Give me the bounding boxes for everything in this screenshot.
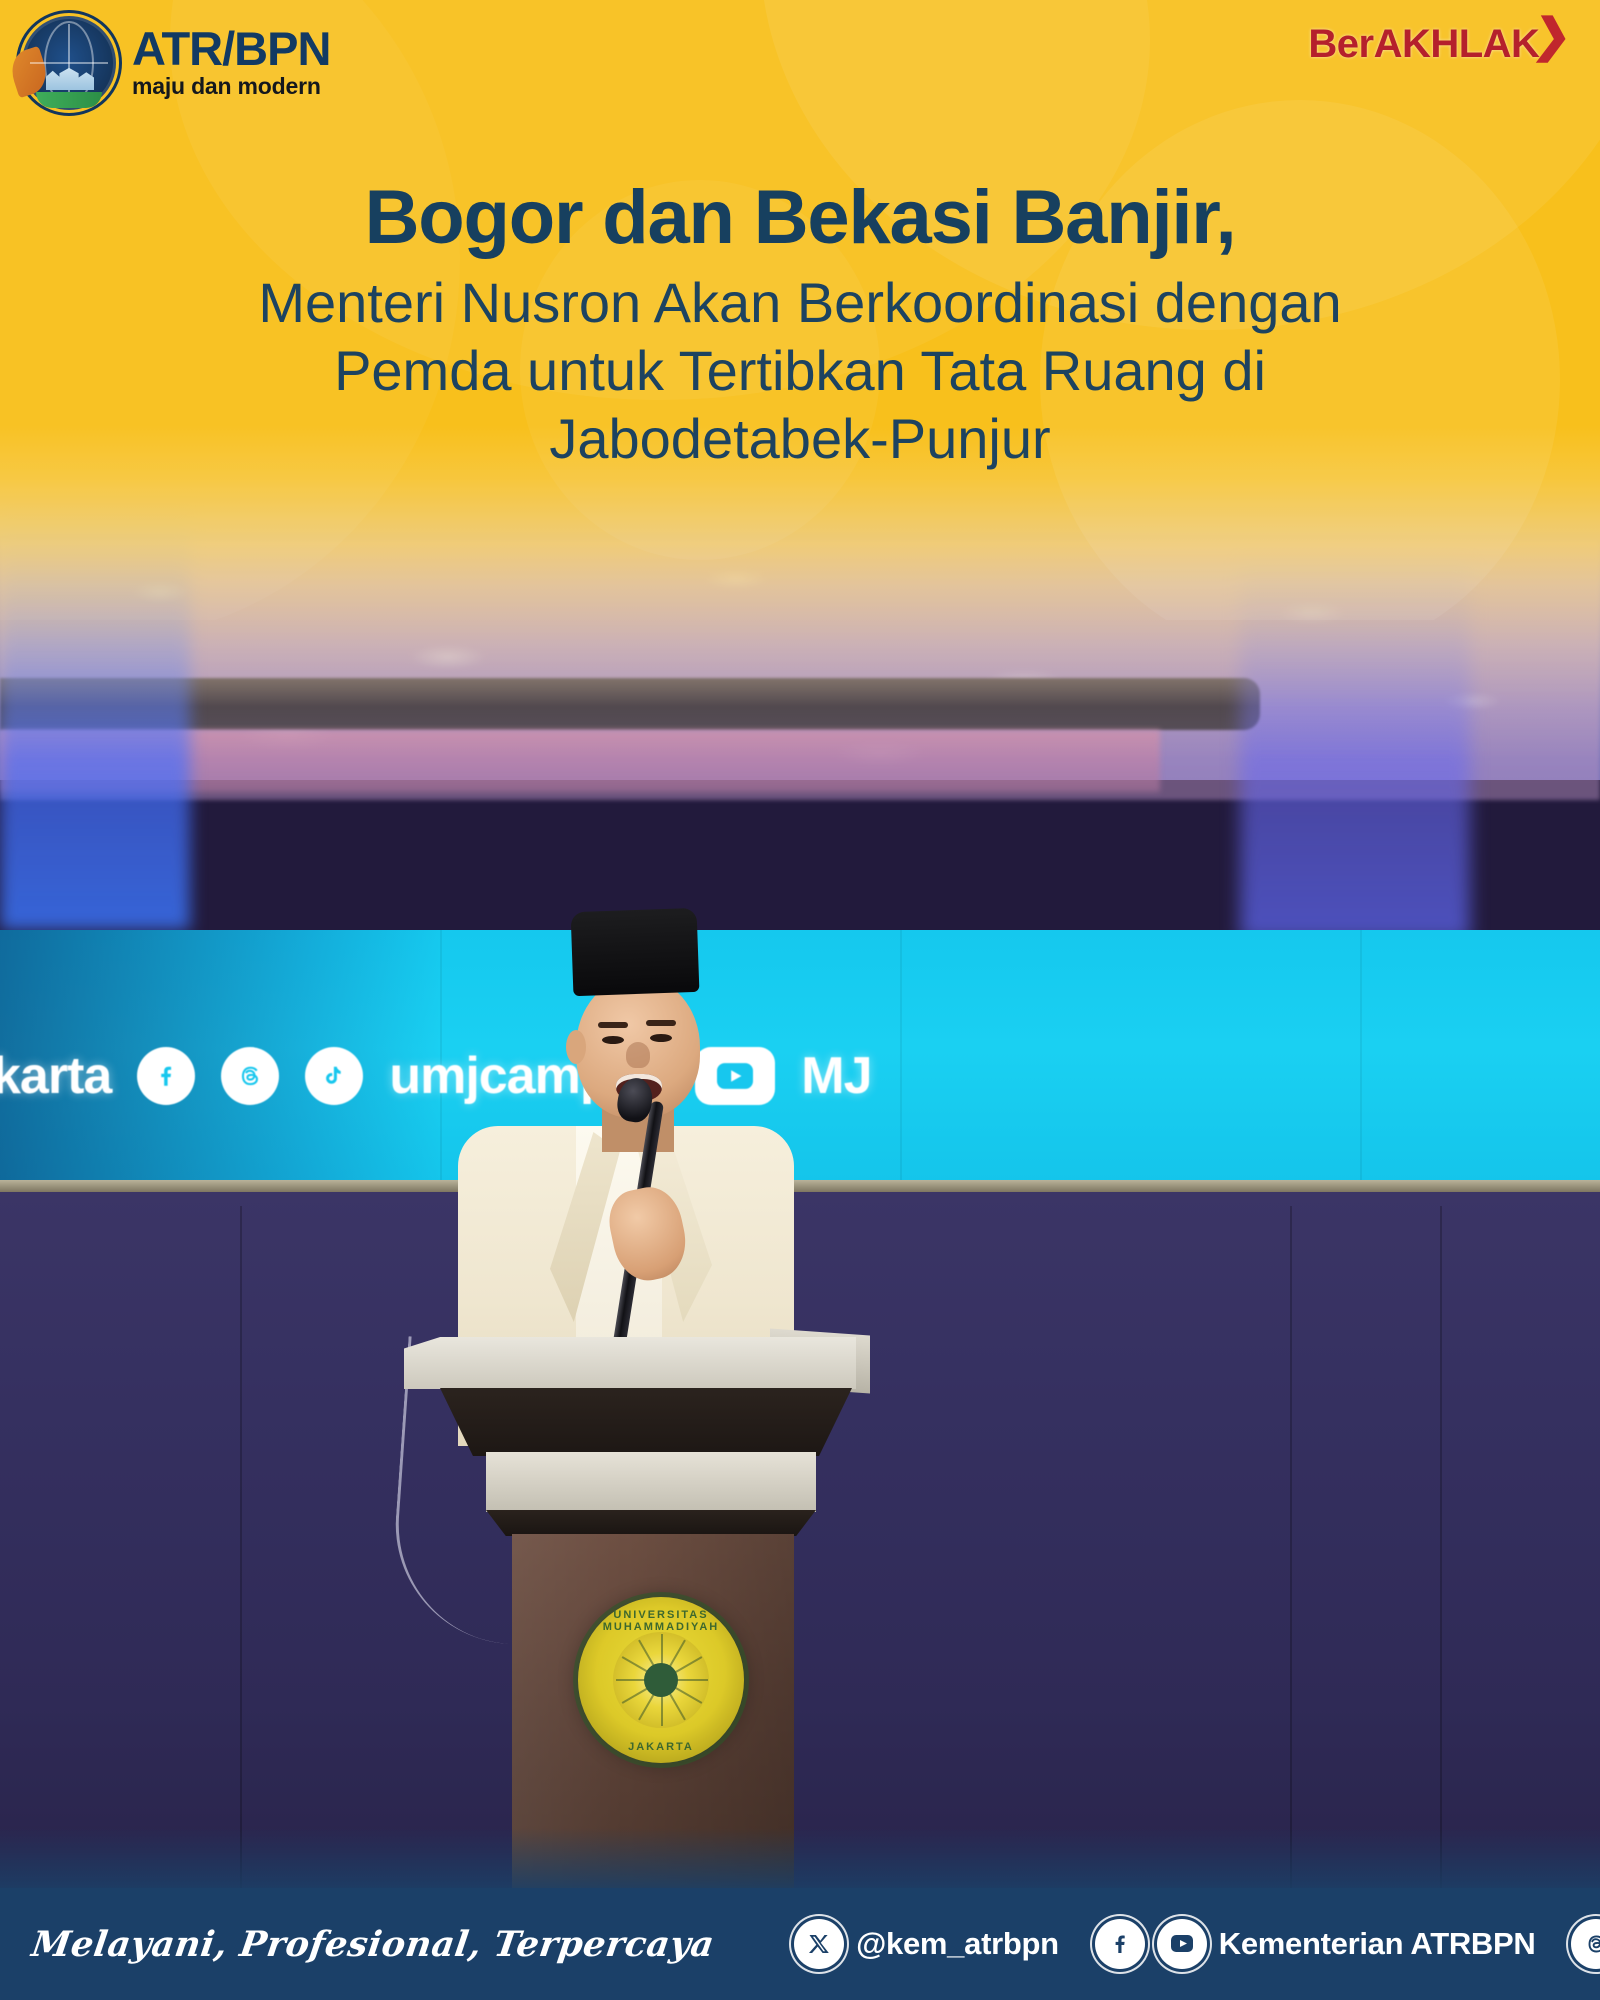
threads-icon — [221, 1047, 279, 1105]
x-twitter-icon[interactable] — [794, 1919, 844, 1969]
facebook-icon — [137, 1047, 195, 1105]
atrbpn-logo-name: ATR/BPN — [132, 26, 330, 71]
footer-tagline: Melayani, Profesional, Terpercaya — [29, 1924, 717, 1965]
speaker-nose — [626, 1042, 650, 1068]
universitas-muhammadiyah-seal-icon: UNIVERSITAS MUHAMMADIYAH JAKARTA — [578, 1597, 744, 1763]
globe-emblem-icon — [22, 16, 116, 110]
atrbpn-logo[interactable]: ATR/BPN maju dan modern — [22, 16, 330, 110]
led-word-left: karta — [0, 1050, 111, 1102]
seal-bottom-text: JAKARTA — [578, 1741, 744, 1753]
atrbpn-logo-tagline: maju dan modern — [132, 73, 330, 100]
poster-card: karta umjcampus — [0, 0, 1600, 2000]
headline-sub-line-2: Pemda untuk Tertibkan Tata Ruang di — [0, 337, 1600, 405]
headline-block: Bogor dan Bekasi Banjir, Menteri Nusron … — [0, 178, 1600, 473]
headline-sub-line-1: Menteri Nusron Akan Berkoordinasi dengan — [0, 269, 1600, 337]
footer-social-threads-ig-tt[interactable]: @kementerian.atrbpn — [1571, 1919, 1600, 1969]
podium-band-shadow — [486, 1510, 816, 1536]
footer-handle-x: @kem_atrbpn — [856, 1926, 1059, 1962]
berakhlak-logo-name: BerAKHLAK — [1308, 22, 1539, 67]
headline-sub: Menteri Nusron Akan Berkoordinasi dengan… — [0, 269, 1600, 474]
berakhlak-logo[interactable]: BerAKHLAK ❯ — [1308, 22, 1572, 67]
threads-icon[interactable] — [1571, 1919, 1600, 1969]
footer-social-fb-yt[interactable]: Kementerian ATRBPN — [1095, 1919, 1536, 1969]
seal-sun-rays — [613, 1632, 709, 1728]
headline-sub-line-3: Jabodetabek-Punjur — [0, 405, 1600, 473]
tiktok-icon — [305, 1047, 363, 1105]
footer-handle-fbyt: Kementerian ATRBPN — [1219, 1926, 1536, 1962]
headline-main: Bogor dan Bekasi Banjir, — [0, 178, 1600, 259]
songkok-cap-icon — [571, 908, 700, 996]
facebook-icon[interactable] — [1095, 1919, 1145, 1969]
podium-band — [486, 1452, 816, 1512]
speaker-ear — [566, 1030, 586, 1064]
seal-center — [644, 1663, 678, 1697]
podium-neck — [440, 1388, 852, 1456]
footer-bar: Melayani, Profesional, Terpercaya @kem_a… — [0, 1888, 1600, 2000]
youtube-icon[interactable] — [1157, 1919, 1207, 1969]
seal-top-text: UNIVERSITAS MUHAMMADIYAH — [578, 1609, 744, 1633]
chevron-right-icon: ❯ — [1531, 8, 1575, 62]
footer-social-x[interactable]: @kem_atrbpn — [794, 1919, 1059, 1969]
podium-top-surface — [404, 1337, 856, 1389]
